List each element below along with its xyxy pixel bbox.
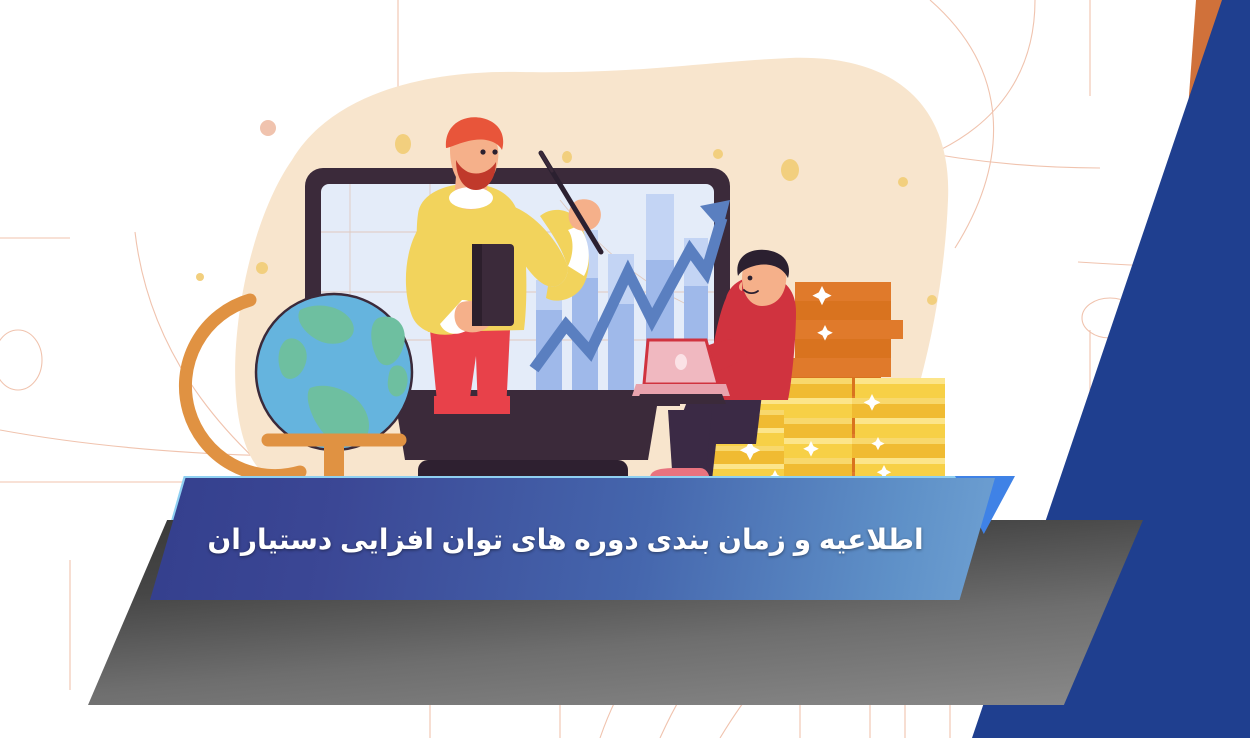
banner-title-text: اطلاعیه و زمان بندی دوره های توان افزایی… [150, 478, 995, 600]
title-banner: اطلاعیه و زمان بندی دوره های توان افزایی… [0, 470, 1250, 738]
poster-canvas: اطلاعیه و زمان بندی دوره های توان افزایی… [0, 0, 1250, 738]
desk-globe [185, 294, 412, 494]
